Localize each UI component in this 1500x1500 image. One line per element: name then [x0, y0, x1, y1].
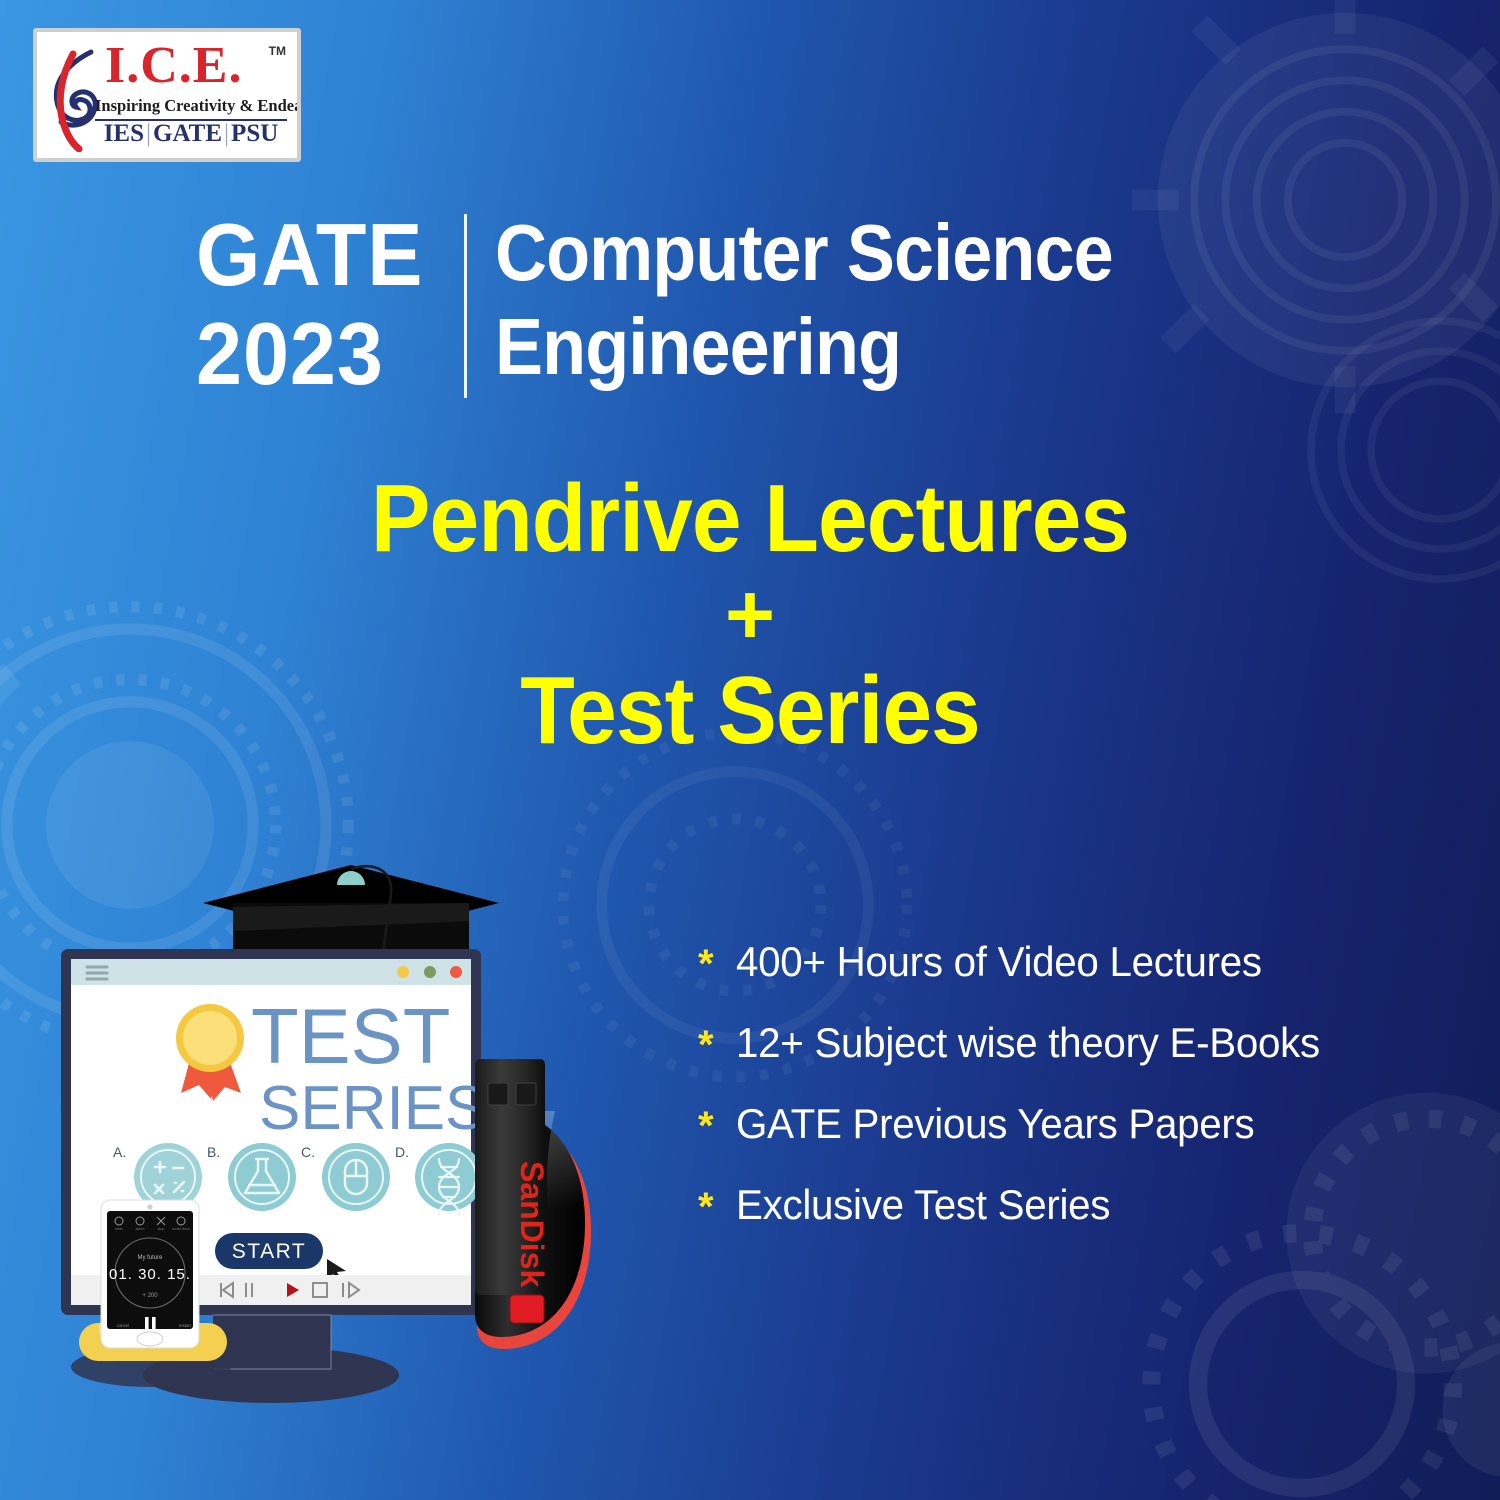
svg-text:C.: C. — [301, 1144, 315, 1160]
trademark-icon: TM — [269, 44, 286, 58]
svg-text:cancel: cancel — [117, 1323, 129, 1328]
feature-list: * 400+ Hours of Video Lectures * 12+ Sub… — [698, 938, 1468, 1262]
phone: timeralarm stopworld clock My future 01.… — [101, 1200, 199, 1348]
monitor-stand — [213, 1315, 331, 1369]
headline-left: GATE 2023 — [196, 206, 438, 403]
timer-value: 01. 30. 15. — [109, 1266, 191, 1283]
start-button: START — [215, 1233, 323, 1269]
list-item: * GATE Previous Years Papers — [698, 1100, 1468, 1147]
list-item: * Exclusive Test Series — [698, 1181, 1468, 1228]
promo-line2: Test Series — [53, 662, 1448, 760]
svg-text:START: START — [232, 1240, 306, 1263]
asterisk-icon: * — [698, 938, 736, 984]
window-dot-green — [424, 966, 436, 978]
feature-text: 12+ Subject wise theory E-Books — [736, 1019, 1320, 1066]
asterisk-icon: * — [698, 1181, 736, 1227]
svg-text:world clock: world clock — [172, 1227, 190, 1231]
headline-gate: GATE — [196, 206, 423, 305]
promo-line1: Pendrive Lectures — [53, 470, 1448, 568]
ice-tagline: Inspiring Creativity & Endeavour — [95, 96, 287, 121]
svg-text:restart: restart — [179, 1323, 192, 1328]
ice-logo: I.C.E. TM Inspiring Creativity & Endeavo… — [33, 28, 301, 162]
window-dot-yellow — [397, 966, 409, 978]
svg-text:alarm: alarm — [136, 1227, 145, 1231]
feature-text: Exclusive Test Series — [736, 1181, 1110, 1228]
illustration: TEST SERIES A. B. — [55, 855, 635, 1435]
feature-text: 400+ Hours of Video Lectures — [736, 938, 1262, 985]
screen-title-main: TEST — [251, 992, 450, 1080]
window-dot-red — [450, 966, 462, 978]
asterisk-icon: * — [698, 1100, 736, 1146]
promo-block: Pendrive Lectures + Test Series — [0, 470, 1500, 760]
svg-text:timer: timer — [115, 1227, 124, 1231]
list-item: * 400+ Hours of Video Lectures — [698, 938, 1468, 985]
browser-bar — [71, 959, 471, 985]
timer-sub: + 200 — [142, 1293, 158, 1299]
promo-plus: + — [0, 572, 1500, 660]
award-ribbon-icon — [176, 1004, 244, 1101]
ice-exams: IES|GATE|PSU — [95, 120, 287, 148]
svg-text:D.: D. — [395, 1144, 409, 1160]
headline-year: 2023 — [196, 305, 423, 404]
headline-branch-line2: Engineering — [495, 300, 1113, 394]
svg-text:stop: stop — [158, 1227, 165, 1231]
sandisk-wordmark: SanDisk — [514, 1161, 550, 1287]
ice-wordmark: I.C.E. — [105, 40, 242, 92]
headline-divider — [464, 214, 467, 398]
pendrive: SanDisk — [475, 1059, 591, 1349]
headline-right: Computer Science Engineering — [495, 206, 1181, 395]
svg-text:A.: A. — [113, 1144, 126, 1160]
headline: GATE 2023 Computer Science Engineering — [196, 206, 1181, 403]
timer-label: My future — [137, 1255, 163, 1261]
promo-poster: I.C.E. TM Inspiring Creativity & Endeavo… — [0, 0, 1500, 1500]
asterisk-icon: * — [698, 1019, 736, 1065]
phone-camera-icon — [147, 1204, 152, 1209]
screen-title-sub: SERIES — [259, 1074, 486, 1143]
list-item: * 12+ Subject wise theory E-Books — [698, 1019, 1468, 1066]
svg-text:B.: B. — [207, 1144, 220, 1160]
feature-text: GATE Previous Years Papers — [736, 1100, 1254, 1147]
headline-branch-line1: Computer Science — [495, 206, 1113, 300]
